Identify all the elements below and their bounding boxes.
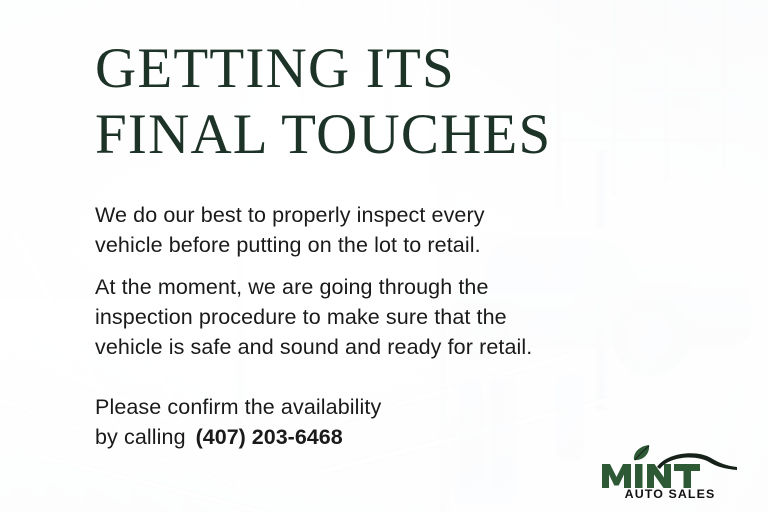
mint-auto-sales-logo[interactable]: AUTO SALES xyxy=(600,444,740,500)
body-paragraph-2: At the moment, we are going through the … xyxy=(95,272,695,362)
wordmark-mint xyxy=(602,464,700,488)
call-label: by calling xyxy=(95,425,186,449)
promo-card: GETTING ITS FINAL TOUCHES We do our best… xyxy=(0,0,768,512)
phone-number[interactable]: (407) 203-6468 xyxy=(196,425,343,449)
page-title: GETTING ITS FINAL TOUCHES xyxy=(95,36,695,168)
call-line: by calling(407) 203-6468 xyxy=(95,422,615,452)
availability-line: Please confirm the availability xyxy=(95,392,615,422)
closing-block: Please confirm the availability by calli… xyxy=(95,392,615,452)
svg-text:AUTO SALES: AUTO SALES xyxy=(625,487,716,500)
content-layer: GETTING ITS FINAL TOUCHES We do our best… xyxy=(0,0,768,512)
leaf-icon xyxy=(634,445,649,460)
body-paragraph-1: We do our best to properly inspect every… xyxy=(95,200,695,260)
tagline-auto-sales: AUTO SALES xyxy=(625,487,716,500)
